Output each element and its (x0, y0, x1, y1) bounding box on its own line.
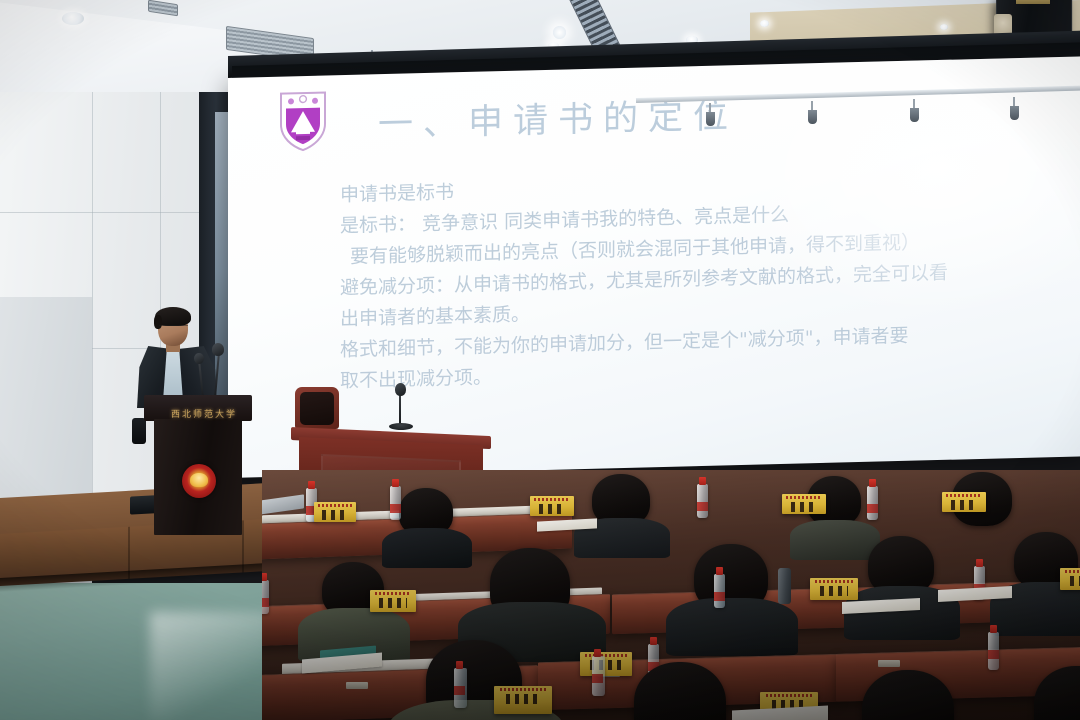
water-bottle (697, 484, 708, 518)
table-microphone (395, 383, 406, 396)
placard-name-line (791, 502, 817, 512)
name-placard (530, 496, 574, 516)
presenter-hair (155, 307, 191, 326)
placard-header-line (1065, 570, 1080, 573)
placard-header-line (946, 494, 981, 497)
attendee-shoulders (790, 520, 880, 560)
placard-header-line (318, 504, 352, 507)
placard-header-line (766, 694, 812, 697)
table-mic-base (389, 423, 413, 430)
track-spotlight (808, 110, 817, 124)
name-placard (810, 578, 858, 600)
truss-lamp (553, 26, 566, 39)
placard-header-line (815, 580, 853, 583)
table-mic-stem (399, 393, 401, 427)
track-spotlight (1010, 106, 1019, 120)
water-bottle (714, 574, 725, 608)
name-placard (494, 686, 552, 714)
downlight (760, 20, 769, 27)
placard-header-line (786, 496, 821, 499)
downlight (940, 24, 948, 30)
downlight (62, 12, 84, 25)
placard-name-line (951, 500, 977, 510)
placard-name-line (820, 586, 849, 596)
wall-seam (0, 212, 232, 213)
podium-nameplate: 西北师范大学 (158, 405, 250, 422)
seat-number-plate (346, 682, 368, 689)
name-placard (580, 652, 632, 676)
track-spotlight (910, 108, 919, 122)
placard-name-line (322, 510, 347, 520)
slide-body: 申请书是标书 是标书： 竞争意识 同类申请书我的特色、亮点是什么 要有能够脱颖而… (340, 161, 1080, 397)
name-placard (314, 502, 356, 522)
water-bottle (454, 668, 467, 708)
placard-header-line (534, 498, 569, 501)
lecture-hall-photo: 一、申请书的定位 申请书是标书 是标书： 竞争意识 同类申请书我的特色、亮点是什… (0, 0, 1080, 720)
water-bottle (262, 580, 269, 614)
podium-microphone (194, 353, 204, 364)
podium-microphone (212, 343, 224, 356)
water-bottle (867, 486, 878, 520)
speaker-bracket (1016, 0, 1050, 4)
wall-seam (92, 92, 93, 532)
podium-front-panel: 西北师范大学 (154, 419, 242, 535)
water-bottle (390, 486, 401, 520)
seat-number-plate (878, 660, 900, 667)
placard-name-line (379, 598, 407, 608)
placard-name-line (1070, 576, 1080, 586)
chair (295, 387, 339, 429)
name-placard (370, 590, 416, 612)
podium: 西北师范大学 (150, 395, 246, 535)
cable-bundle (132, 418, 146, 444)
name-placard (942, 492, 986, 512)
water-bottle (988, 632, 999, 670)
hvac-vent (148, 0, 178, 16)
name-placard (1060, 568, 1080, 590)
placard-header-line (375, 592, 412, 595)
track-spotlight (706, 112, 715, 126)
placard-header-line (500, 688, 546, 691)
university-round-emblem (182, 464, 216, 498)
attendee-shoulders (666, 598, 798, 656)
placard-name-line (506, 694, 541, 704)
audience-seating (262, 470, 1080, 720)
name-placard (782, 494, 826, 514)
placard-name-line (539, 504, 565, 514)
attendee-shoulders (382, 528, 472, 568)
thermos-tumbler (778, 568, 791, 604)
glasses-icon (159, 325, 188, 331)
water-bottle (592, 656, 605, 696)
university-shield-crest (278, 89, 328, 152)
floor-reflection (150, 612, 270, 720)
